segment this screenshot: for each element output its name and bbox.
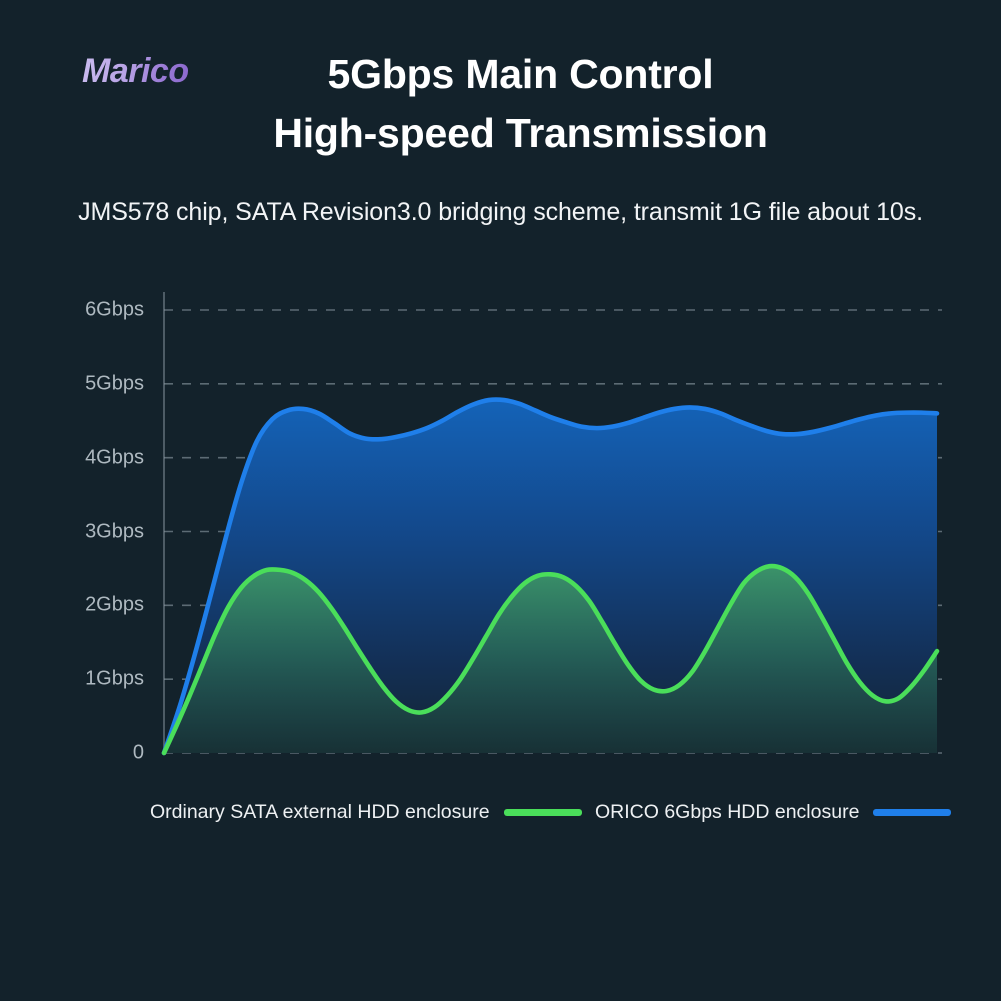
y-tick-label: 3Gbps [52, 520, 144, 543]
legend-swatch-orico [873, 809, 951, 816]
y-tick-label: 5Gbps [52, 372, 144, 395]
y-tick-label: 2Gbps [52, 594, 144, 617]
legend-item-ordinary[interactable]: Ordinary SATA external HDD enclosure [150, 797, 582, 827]
y-tick-label: 0 [52, 742, 144, 765]
y-tick-label: 1Gbps [52, 668, 144, 691]
chart-canvas [0, 0, 1001, 1001]
legend-swatch-ordinary [504, 809, 582, 816]
legend-item-orico[interactable]: ORICO 6Gbps HDD enclosure [595, 797, 951, 827]
speed-comparison-chart: 01Gbps2Gbps3Gbps4Gbps5Gbps6Gbps [0, 0, 1001, 1001]
promo-banner: Marico 5Gbps Main Control High-speed Tra… [0, 0, 1001, 1001]
legend-label-orico: ORICO 6Gbps HDD enclosure [595, 801, 859, 824]
chart-legend: Ordinary SATA external HDD enclosure ORI… [140, 797, 960, 827]
legend-label-ordinary: Ordinary SATA external HDD enclosure [150, 801, 490, 824]
y-tick-label: 6Gbps [52, 299, 144, 322]
y-tick-label: 4Gbps [52, 446, 144, 469]
chart-series-layer [164, 400, 937, 753]
